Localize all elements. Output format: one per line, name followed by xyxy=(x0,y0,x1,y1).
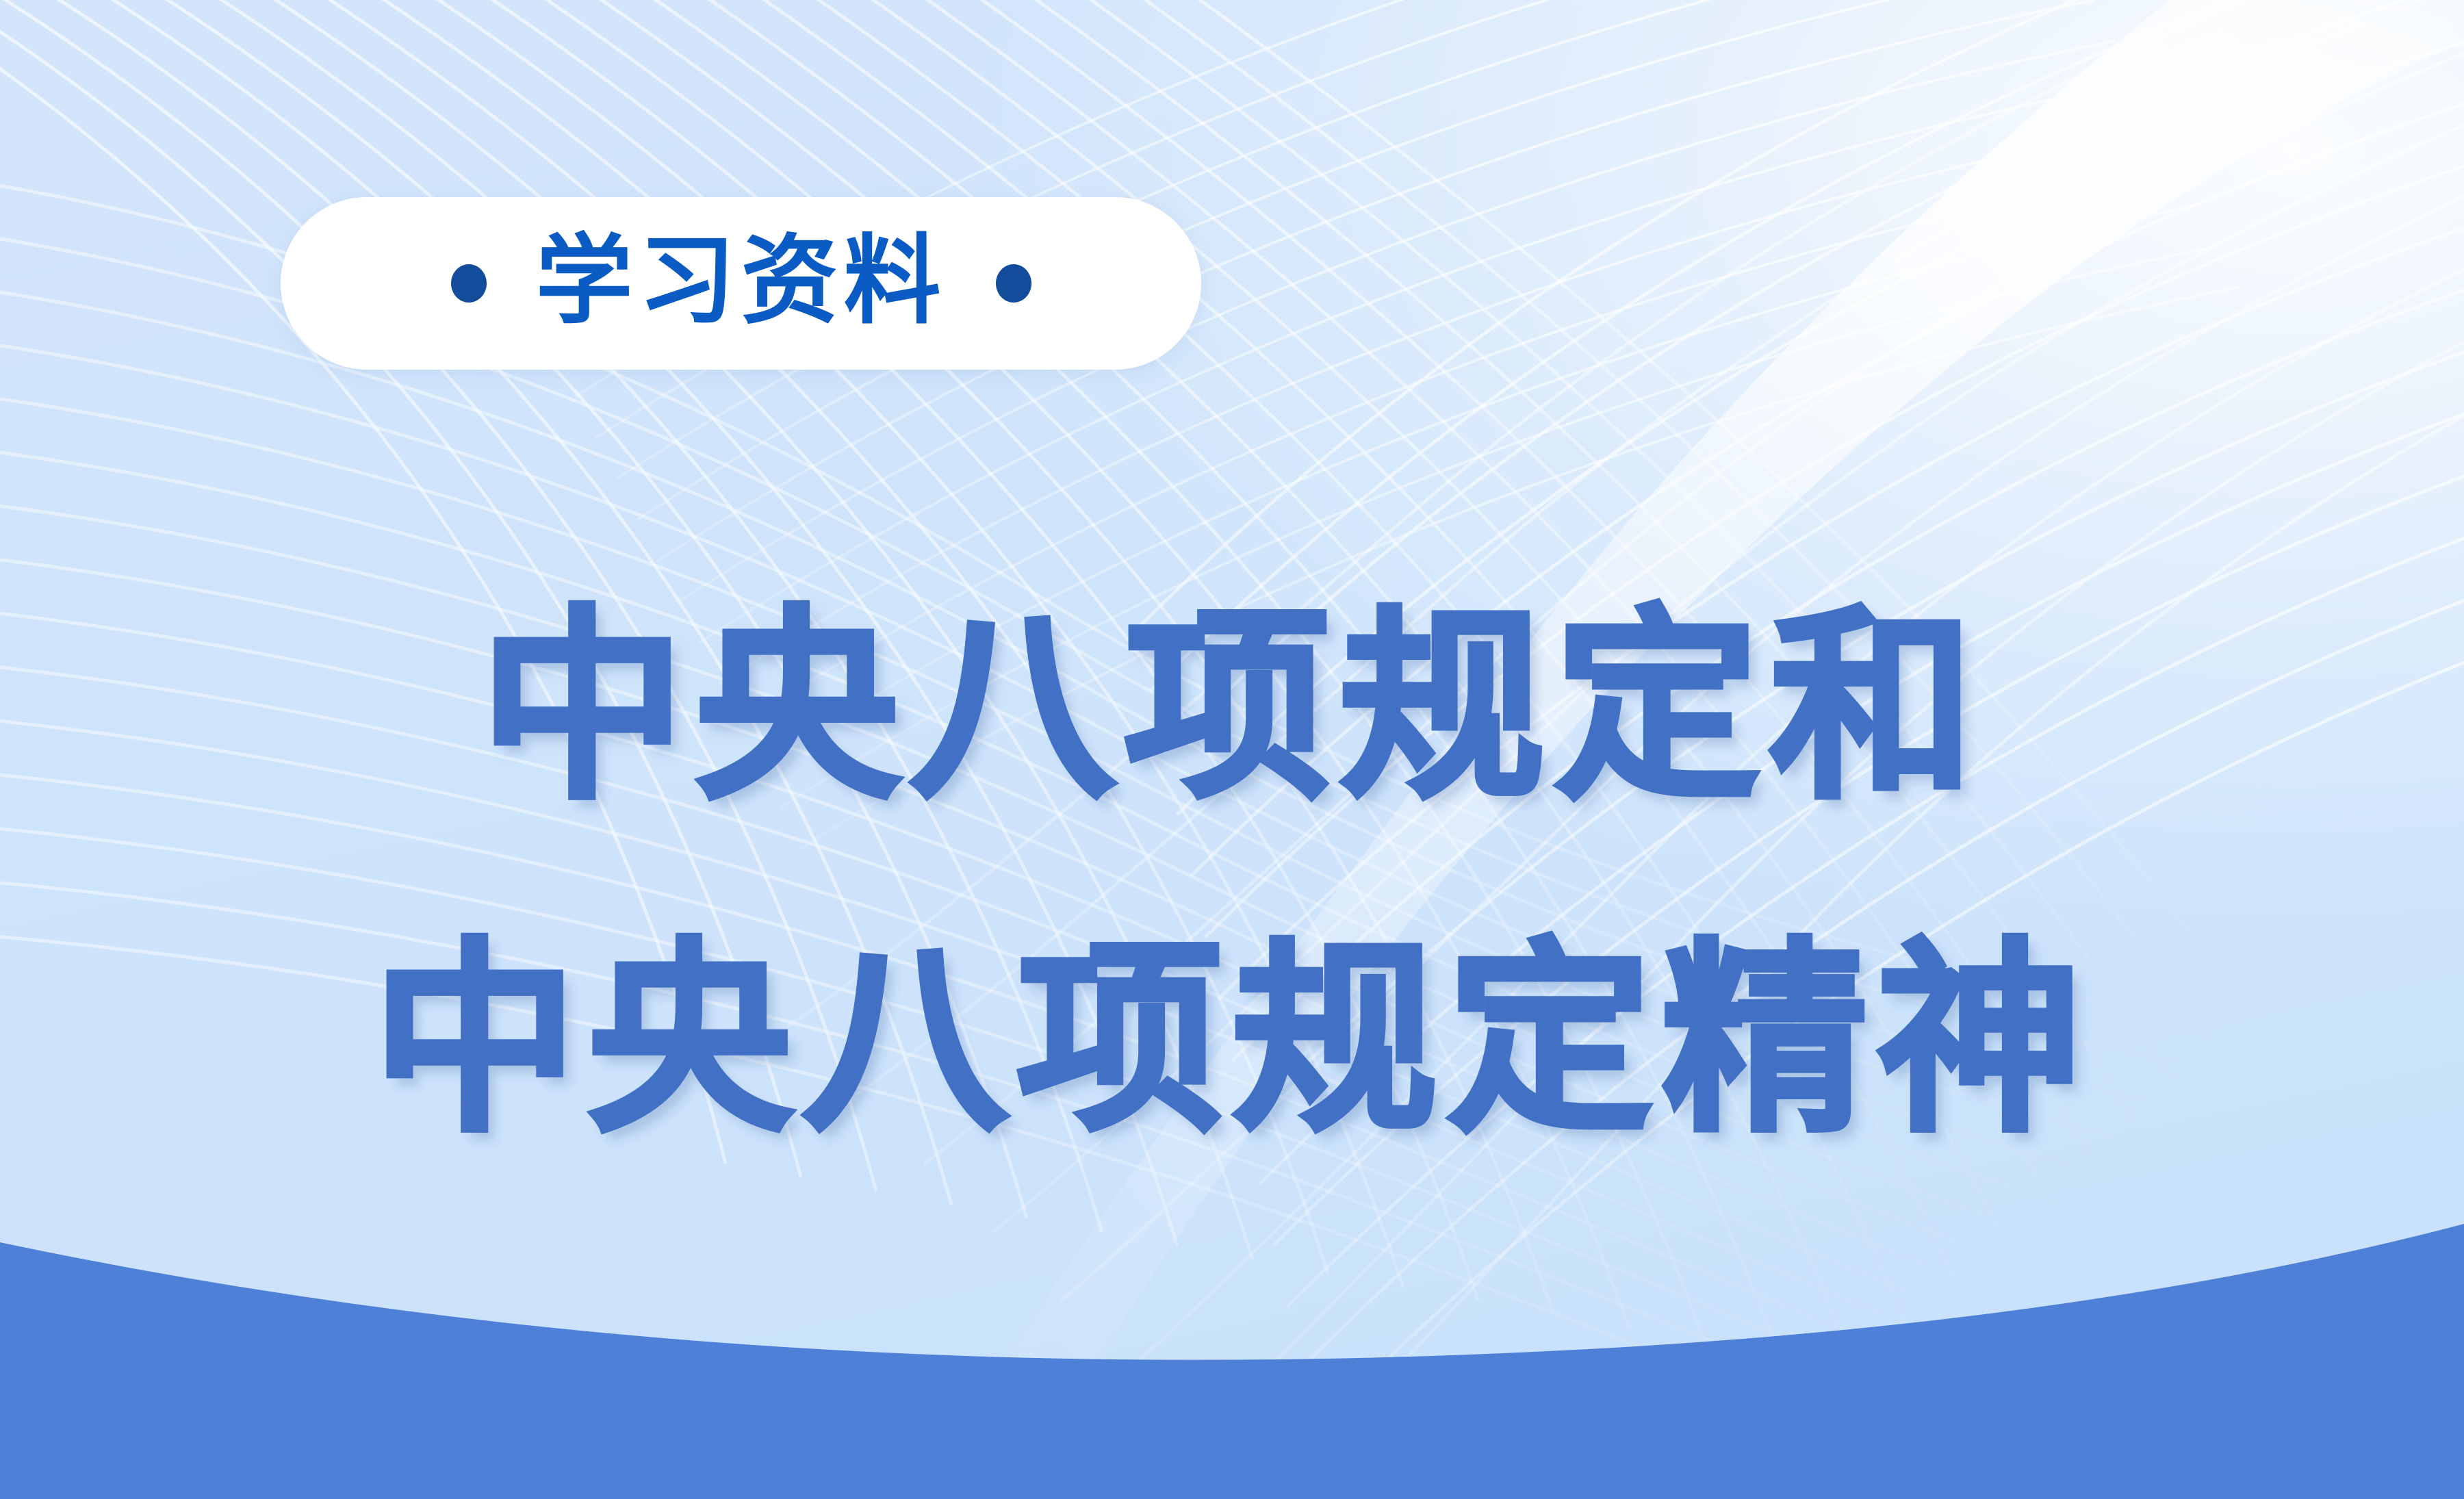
poster-canvas: 学习资料 中央八项规定和 中央八项规定精神 xyxy=(0,0,2464,1499)
title-line-2: 中央八项规定精神 xyxy=(0,873,2464,1206)
page-title: 中央八项规定和 中央八项规定精神 xyxy=(0,541,2464,1206)
badge-label: 学习资料 xyxy=(536,233,947,334)
dot-icon-left xyxy=(451,264,487,303)
title-line-1: 中央八项规定和 xyxy=(0,541,2464,873)
dot-icon-right xyxy=(996,264,1031,303)
study-materials-badge[interactable]: 学习资料 xyxy=(281,197,1201,370)
